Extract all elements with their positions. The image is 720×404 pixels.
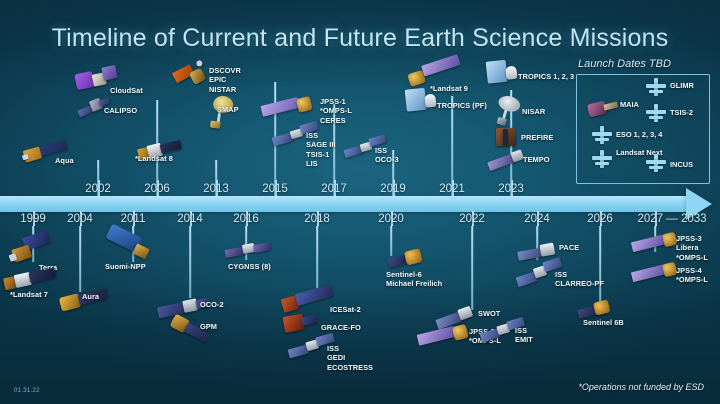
mission-label-tropics-pf: TROPICS (PF): [437, 101, 487, 110]
stem-1999: [32, 226, 34, 262]
stem-2027-2033: [654, 226, 656, 252]
mission-label-swot: SWOT: [478, 309, 500, 318]
stem-2014: [189, 226, 191, 298]
satellite-icon-eso: [592, 126, 612, 144]
satellite-icon-grace-fo: [282, 309, 320, 339]
axis-year-2004: 2004: [67, 213, 93, 225]
tbd-label-glimr: GLIMR: [670, 81, 694, 90]
stem-2022: [471, 226, 473, 310]
footnote-text: *Operations not funded by ESD: [578, 382, 704, 392]
mission-label-iss-emit: ISS EMIT: [515, 326, 533, 345]
mission-label-iss-sage-iii: ISS SAGE III TSIS-1 LIS: [306, 131, 336, 169]
mission-label-iss-clarreo-pf: ISS CLARREO-PF: [555, 270, 604, 289]
satellite-icon-nisar: [490, 93, 524, 131]
mission-label-nisar: NISAR: [522, 107, 545, 116]
satellite-icon-prefire: [496, 128, 518, 148]
satellite-icon-jpss-1: [260, 90, 321, 129]
mission-label-prefire: PREFIRE: [521, 133, 553, 142]
mission-label-cygnss: CYGNSS (8): [228, 262, 271, 271]
axis-year-2018: 2018: [304, 213, 330, 225]
mission-label-jpss-2: JPSS-2 *OMPS-L: [469, 327, 501, 346]
mission-label-jpss-4: JPSS-4 *OMPS-L: [676, 266, 708, 285]
mission-label-gpm: GPM: [200, 322, 217, 331]
mission-label-aqua: Aqua: [55, 156, 74, 165]
mission-label-icesat-2: ICESat-2: [330, 305, 361, 314]
tbd-panel-heading: Launch Dates TBD: [578, 58, 671, 70]
mission-label-iss-oco-3: ISS OCO-3: [375, 146, 399, 165]
mission-label-oco-2: OCO-2: [200, 300, 224, 309]
mission-label-tempo: TEMPO: [523, 155, 550, 164]
axis-year-2016: 2016: [233, 213, 259, 225]
timeline-axis-band: [0, 196, 690, 212]
stem-2026: [599, 226, 601, 304]
tbd-label-maia: MAIA: [620, 100, 639, 109]
axis-year-2014: 2014: [177, 213, 203, 225]
mission-label-sentinel-6b: Sentinel 6B: [583, 318, 624, 327]
tbd-label-incus: INCUS: [670, 160, 693, 169]
mission-label-iss-gedi-ecostress: ISS GEDI ECOSTRESS: [327, 344, 373, 372]
mission-label-smap: SMAP: [217, 105, 239, 114]
axis-year-2020: 2020: [378, 213, 404, 225]
stem-2024: [536, 226, 538, 260]
mission-label-jpss-1: JPSS-1 *OMPS-L CERES: [320, 97, 352, 125]
axis-year-2022: 2022: [459, 213, 485, 225]
stem-2002: [97, 160, 99, 196]
stem-2016: [245, 226, 247, 260]
stem-2006: [156, 100, 158, 196]
mission-label-pace: PACE: [559, 243, 579, 252]
mission-label-calipso: CALIPSO: [104, 106, 137, 115]
axis-year-2026: 2026: [587, 213, 613, 225]
axis-year-2011: 2011: [121, 213, 146, 225]
date-stamp: 01.31.22: [14, 388, 40, 394]
mission-label-dscovr: DSCOVR EPIC NISTAR: [209, 66, 241, 94]
stem-2023: [510, 90, 512, 196]
stem-2018: [316, 226, 318, 292]
axis-year-2024: 2024: [524, 213, 550, 225]
mission-label-grace-fo: GRACE-FO: [321, 323, 361, 332]
satellite-icon-tsis-2: [646, 104, 666, 122]
axis-year-range-2027-2033: 2027 — 2033: [637, 213, 706, 225]
satellite-icon-icesat-2: [279, 281, 336, 320]
satellite-icon-glimr: [646, 78, 666, 96]
satellite-icon-jpss-2: [416, 318, 477, 357]
page-title: Timeline of Current and Future Earth Sci…: [0, 24, 720, 53]
stem-2004: [79, 226, 81, 292]
stem-2021: [451, 96, 453, 196]
mission-label-landsat-8: *Landsat 8: [135, 154, 173, 163]
tbd-label-tsis-2: TSIS-2: [670, 108, 693, 117]
mission-label-landsat-9: *Landsat 9: [430, 84, 468, 93]
stem-2015: [274, 82, 276, 196]
satellite-icon-tropics-123: [486, 58, 523, 89]
mission-label-suomi-npp: Suomi-NPP: [105, 262, 146, 271]
mission-label-terra: Terra: [39, 263, 57, 272]
mission-label-jpss-3: JPSS-3 Libera *OMPS-L: [676, 234, 708, 262]
mission-label-sentinel-6: Sentinel-6 Michael Freilich: [386, 270, 442, 289]
satellite-icon-incus: [646, 154, 666, 172]
stem-2020: [390, 226, 392, 256]
mission-label-tropics-123: TROPICS 1, 2, 3: [518, 72, 574, 81]
satellite-icon-pace: [516, 238, 563, 269]
satellite-icon-landsat-next: [592, 150, 612, 168]
mission-label-aura: Aura: [82, 292, 99, 301]
mission-label-landsat-7: *Landsat 7: [10, 290, 48, 299]
axis-year-1999: 1999: [20, 213, 46, 225]
tbd-label-eso: ESO 1, 2, 3, 4: [616, 130, 662, 139]
stem-2011: [132, 226, 134, 262]
mission-label-cloudsat: CloudSat: [110, 86, 143, 95]
infographic-canvas: Timeline of Current and Future Earth Sci…: [0, 0, 720, 404]
stem-2013: [215, 160, 217, 196]
